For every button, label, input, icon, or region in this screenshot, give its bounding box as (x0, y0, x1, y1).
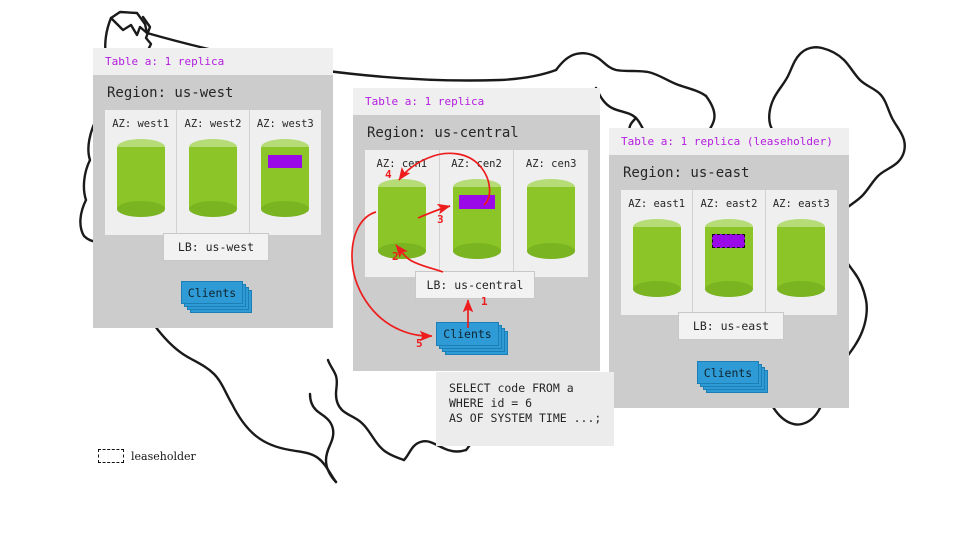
lb-us-central[interactable]: LB: us-central (415, 271, 535, 299)
az-cell-west2[interactable]: AZ: west2 (177, 110, 249, 235)
arrow-number-1: 1 (481, 295, 488, 308)
cylinder-cen2[interactable] (453, 179, 501, 259)
region-title-us-central: Region: us-central (353, 115, 600, 150)
az-label-cen2: AZ: cen2 (451, 158, 502, 170)
cylinder-west2[interactable] (189, 139, 237, 217)
arrow-number-5: 5 (416, 337, 423, 350)
cylinder-body (117, 147, 165, 209)
legend-leaseholder: leaseholder (98, 449, 196, 463)
cylinder-body (527, 187, 575, 251)
arrow-number-3: 3 (437, 213, 444, 226)
region-header-us-central: Table a: 1 replica (353, 88, 600, 115)
region-header-us-east: Table a: 1 replica (leaseholder) (609, 128, 849, 155)
az-cell-cen1[interactable]: AZ: cen1 (365, 150, 440, 277)
az-label-east1: AZ: east1 (628, 198, 685, 210)
cylinder-bottom (378, 243, 426, 259)
diagram-canvas: Table a: 1 replica Region: us-west AZ: w… (0, 0, 960, 540)
cylinder-body (189, 147, 237, 209)
cylinder-cen1[interactable] (378, 179, 426, 259)
cylinder-body (633, 227, 681, 289)
cylinder-east2[interactable] (705, 219, 753, 297)
clients-us-west[interactable]: Clients (181, 281, 251, 311)
cylinder-bottom (633, 281, 681, 297)
az-label-west1: AZ: west1 (112, 118, 169, 130)
cylinder-east3[interactable] (777, 219, 825, 297)
clients-us-east[interactable]: Clients (697, 361, 767, 391)
az-label-east2: AZ: east2 (701, 198, 758, 210)
region-title-us-west: Region: us-west (93, 75, 333, 110)
region-header-us-west: Table a: 1 replica (93, 48, 333, 75)
legend-label: leaseholder (131, 450, 196, 463)
cylinder-bottom (777, 281, 825, 297)
az-label-west2: AZ: west2 (185, 118, 242, 130)
lb-us-east[interactable]: LB: us-east (678, 312, 784, 340)
region-panel-us-central: Table a: 1 replica Region: us-central AZ… (353, 88, 600, 371)
arrow-number-4: 4 (385, 168, 392, 181)
cylinder-cen3[interactable] (527, 179, 575, 259)
replica-cen2[interactable] (459, 195, 495, 209)
clients-us-central[interactable]: Clients (436, 322, 508, 354)
az-label-cen3: AZ: cen3 (526, 158, 577, 170)
clients-label[interactable]: Clients (181, 281, 243, 304)
cylinder-body (378, 187, 426, 251)
az-cell-east2[interactable]: AZ: east2 (693, 190, 765, 315)
cylinder-bottom (705, 281, 753, 297)
az-row-us-east: AZ: east1 AZ: east2 (621, 190, 837, 315)
replica-west3[interactable] (268, 155, 302, 168)
az-cell-east1[interactable]: AZ: east1 (621, 190, 693, 315)
cylinder-bottom (453, 243, 501, 259)
cylinder-west1[interactable] (117, 139, 165, 217)
az-cell-west3[interactable]: AZ: west3 (250, 110, 321, 235)
cylinder-east1[interactable] (633, 219, 681, 297)
region-panel-us-east: Table a: 1 replica (leaseholder) Region:… (609, 128, 849, 408)
az-label-west3: AZ: west3 (257, 118, 314, 130)
cylinder-bottom (527, 243, 575, 259)
cylinder-bottom (189, 201, 237, 217)
az-cell-west1[interactable]: AZ: west1 (105, 110, 177, 235)
cylinder-body (777, 227, 825, 289)
dashed-rect-swatch (98, 449, 124, 463)
lb-us-west[interactable]: LB: us-west (163, 233, 269, 261)
az-label-east3: AZ: east3 (773, 198, 830, 210)
clients-label[interactable]: Clients (697, 361, 759, 384)
arrow-number-2: 2 (392, 250, 399, 263)
az-row-us-west: AZ: west1 AZ: west2 (105, 110, 321, 235)
replica-east2-leaseholder[interactable] (712, 234, 745, 248)
az-cell-east3[interactable]: AZ: east3 (766, 190, 837, 315)
region-panel-us-west: Table a: 1 replica Region: us-west AZ: w… (93, 48, 333, 328)
region-title-us-east: Region: us-east (609, 155, 849, 190)
az-cell-cen3[interactable]: AZ: cen3 (514, 150, 588, 277)
cylinder-bottom (117, 201, 165, 217)
az-cell-cen2[interactable]: AZ: cen2 (440, 150, 515, 277)
cylinder-west3[interactable] (261, 139, 309, 217)
sql-query-box: SELECT code FROM a WHERE id = 6 AS OF SY… (436, 372, 614, 446)
clients-label[interactable]: Clients (436, 322, 499, 346)
cylinder-bottom (261, 201, 309, 217)
